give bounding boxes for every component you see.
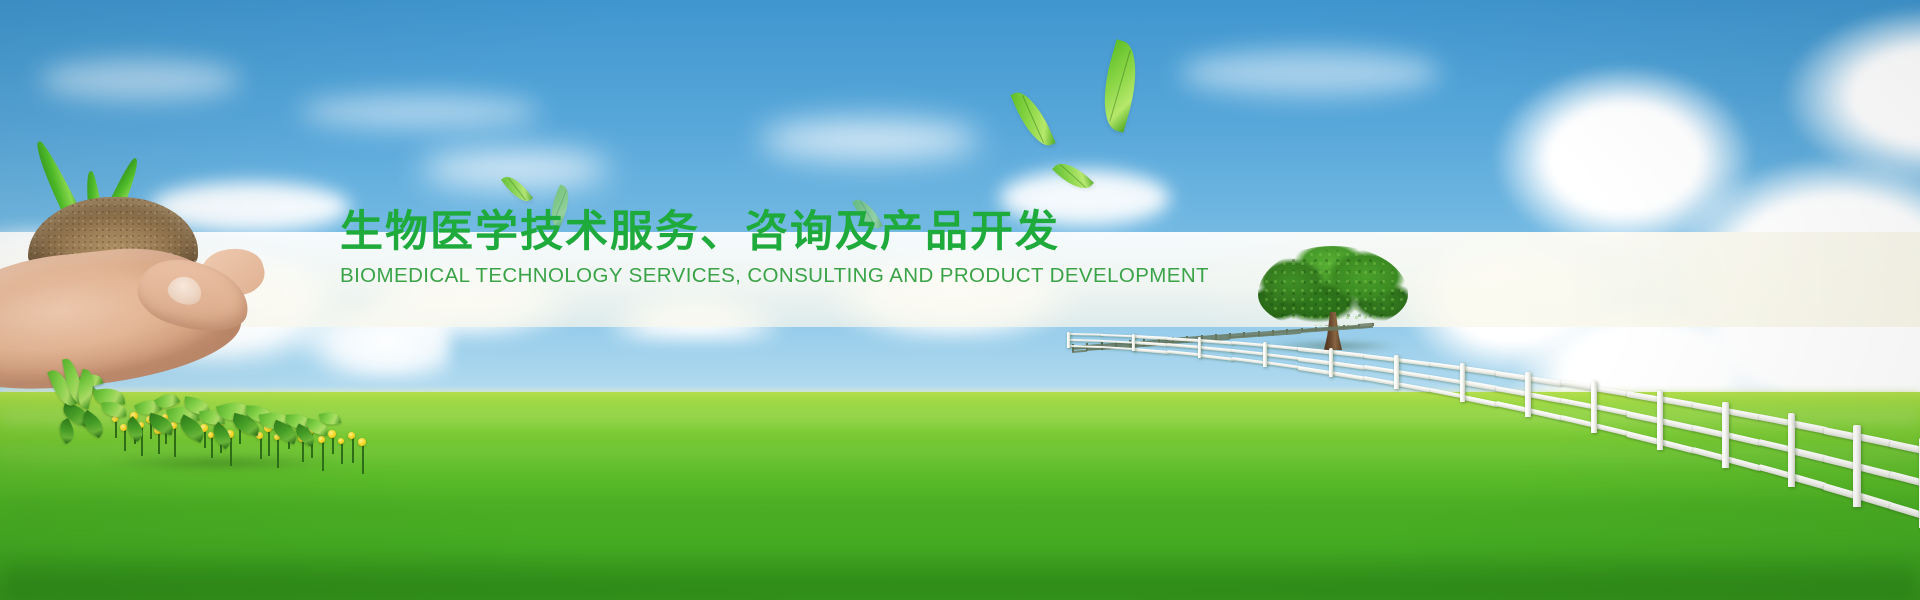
vignette-overlay <box>0 0 1920 600</box>
hero-banner: 生物医学技术服务、咨询及产品开发 BIOMEDICAL TECHNOLOGY S… <box>0 0 1920 600</box>
